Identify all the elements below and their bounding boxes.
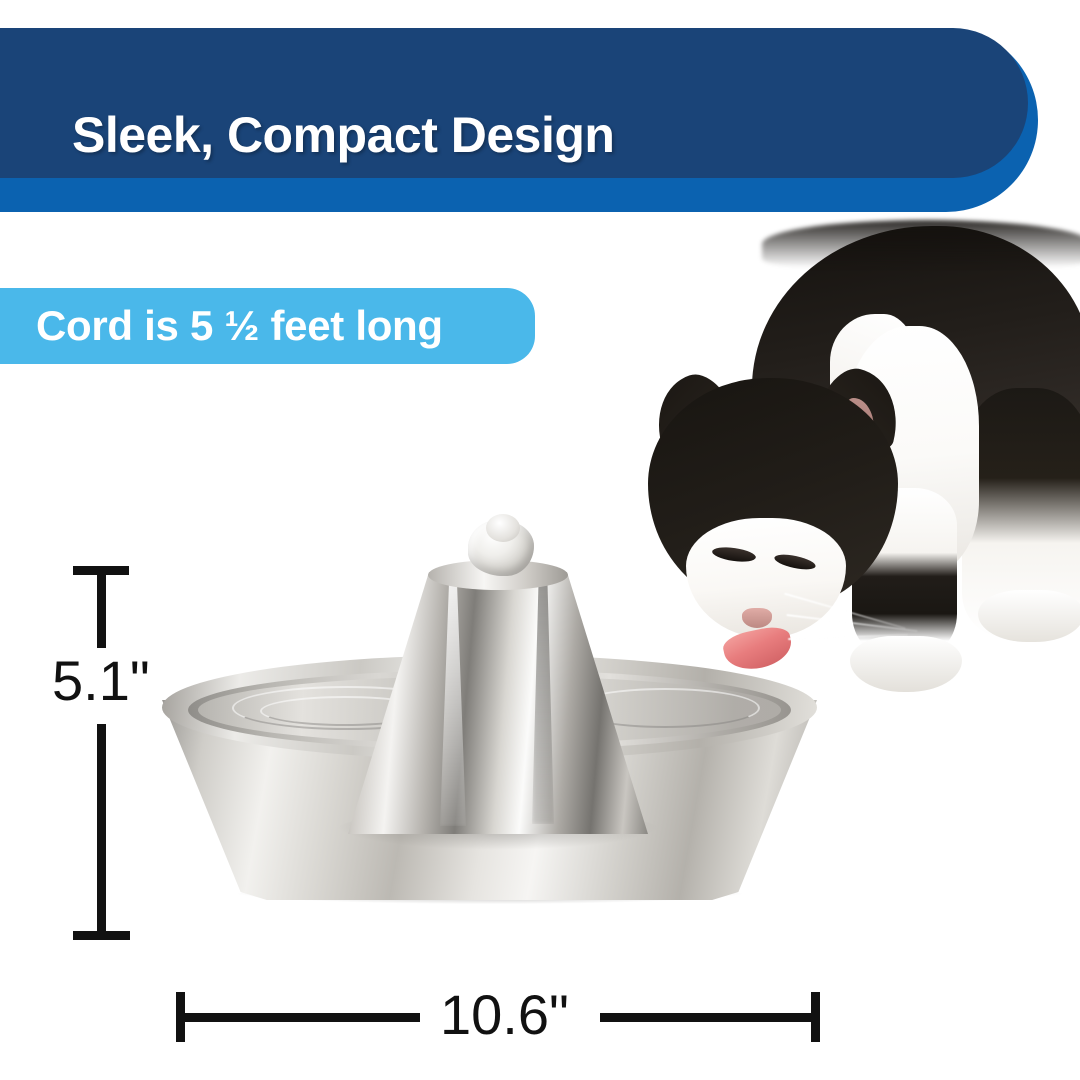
dimension-width-annotation: 10.6" <box>0 0 1080 1080</box>
dimension-line-left <box>180 1013 420 1022</box>
dimension-line-right <box>600 1013 816 1022</box>
dimension-cap-right <box>811 992 820 1042</box>
dimension-width-label: 10.6" <box>440 982 569 1047</box>
